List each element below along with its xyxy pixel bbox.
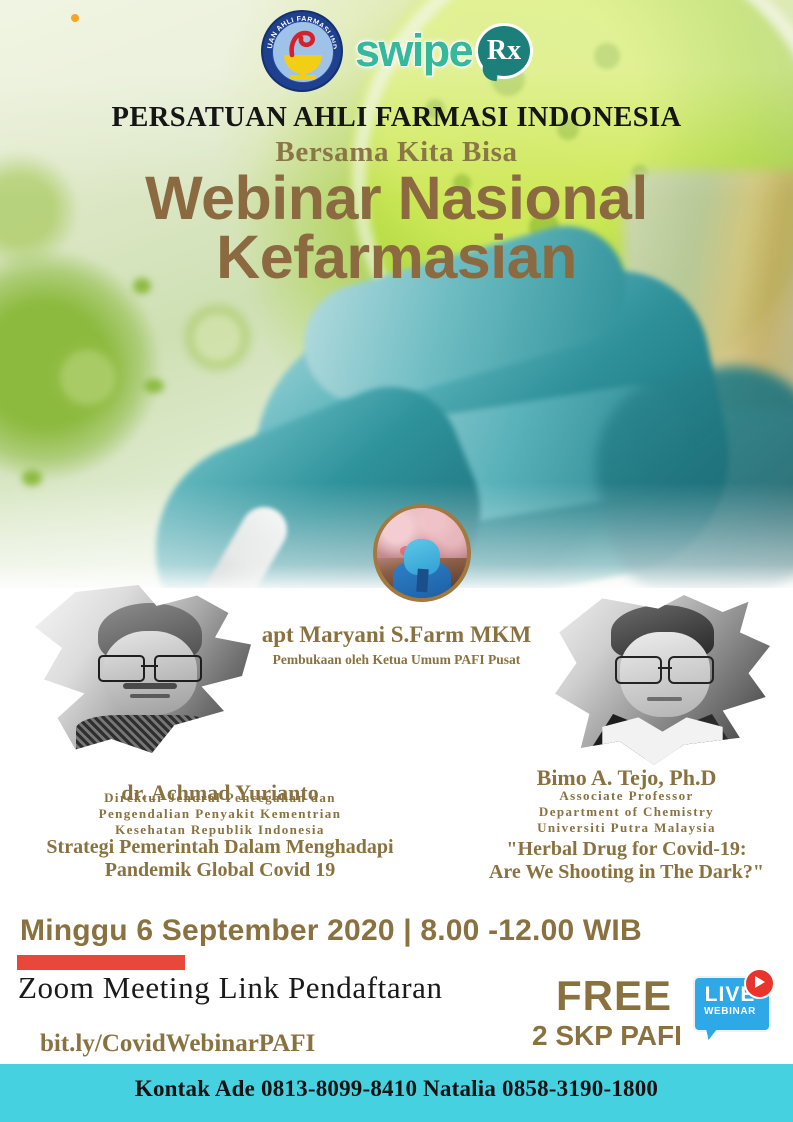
rx-bubble-icon: Rx bbox=[478, 26, 530, 76]
left-speaker-photo bbox=[35, 585, 260, 760]
registration-link[interactable]: bit.ly/CovidWebinarPAFI bbox=[40, 1030, 315, 1058]
registration-label: Zoom Meeting Link Pendaftaran bbox=[18, 970, 443, 1006]
logo-row: PERSATUAN AHLI FARMASI INDONESIA ★ P A F… bbox=[0, 8, 793, 94]
center-speaker-photo bbox=[377, 508, 467, 598]
contact-footer-bar: Kontak Ade 0813-8099-8410 Natalia 0858-3… bbox=[0, 1064, 793, 1122]
live-badge-tail bbox=[705, 1024, 721, 1040]
left-speaker-topic: Strategi Pemerintah Dalam Menghadapi Pan… bbox=[0, 836, 440, 882]
live-badge-webinar-text: WEBINAR bbox=[693, 1006, 767, 1017]
right-speaker-topic: "Herbal Drug for Covid-19: Are We Shooti… bbox=[460, 838, 793, 884]
rx-label: Rx bbox=[487, 37, 521, 65]
price-free-label: FREE bbox=[556, 972, 672, 1020]
center-speaker-collar bbox=[416, 569, 428, 593]
left-speaker-moustache bbox=[123, 683, 177, 689]
left-speaker-mouth bbox=[130, 694, 171, 698]
event-date-time: Minggu 6 September 2020 | 8.00 -12.00 WI… bbox=[20, 914, 642, 948]
left-speaker-batik-shirt bbox=[76, 715, 220, 761]
right-speaker-mouth bbox=[647, 697, 681, 701]
play-button-icon bbox=[744, 968, 775, 999]
right-speaker-glasses bbox=[615, 656, 714, 680]
poster-title-line-2: Kefarmasian bbox=[0, 222, 793, 292]
skp-credits-label: 2 SKP PAFI bbox=[532, 1020, 682, 1052]
swiperx-logo: swipe Rx bbox=[355, 25, 530, 77]
webinar-poster: PERSATUAN AHLI FARMASI INDONESIA ★ P A F… bbox=[0, 0, 793, 1122]
organization-name: PERSATUAN AHLI FARMASI INDONESIA bbox=[0, 102, 793, 134]
right-speaker-collar bbox=[602, 717, 722, 765]
red-underline-bar bbox=[17, 955, 185, 970]
live-webinar-badge: LIVE WEBINAR bbox=[693, 972, 773, 1044]
center-speaker-avatar bbox=[373, 504, 471, 602]
snake-icon bbox=[286, 27, 320, 61]
left-speaker-affiliation: Direktur Jendral Pencegahan dan Pengenda… bbox=[0, 790, 440, 838]
left-speaker-image bbox=[35, 585, 260, 760]
hygieia-bowl-base bbox=[290, 75, 316, 80]
right-speaker-photo bbox=[555, 595, 770, 765]
right-speaker-image bbox=[555, 595, 770, 765]
pafi-logo: PERSATUAN AHLI FARMASI INDONESIA ★ P A F… bbox=[263, 12, 341, 90]
pafi-logo-inner bbox=[272, 21, 334, 83]
right-speaker-affiliation: Associate Professor Department of Chemis… bbox=[460, 788, 793, 836]
left-speaker-glasses bbox=[98, 655, 202, 678]
swipe-wordmark: swipe bbox=[355, 25, 472, 77]
contact-text: Kontak Ade 0813-8099-8410 Natalia 0858-3… bbox=[0, 1076, 793, 1102]
swipe-i-dot bbox=[71, 14, 79, 22]
